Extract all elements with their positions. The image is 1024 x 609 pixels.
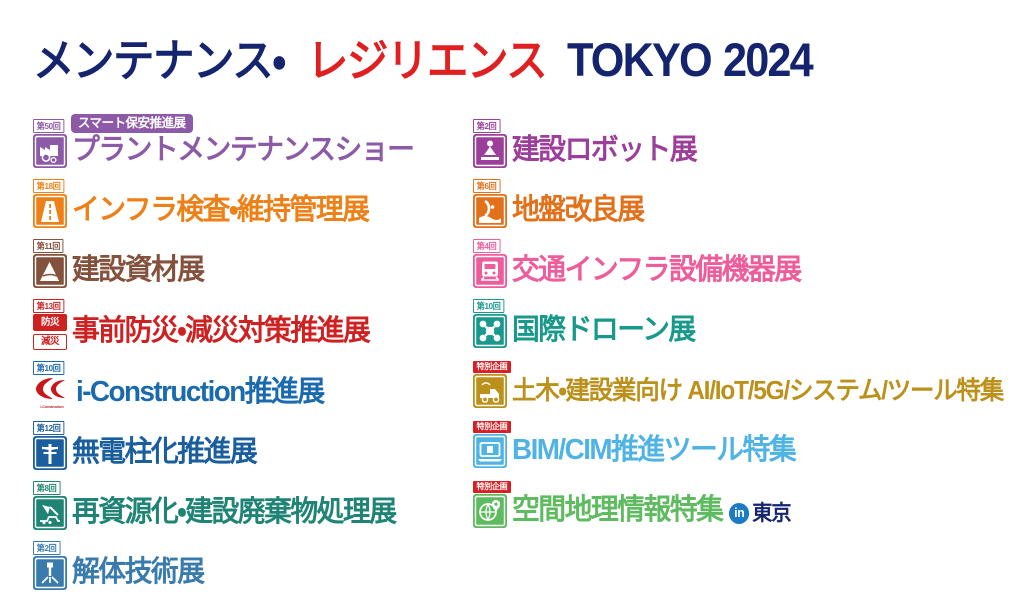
exhibition-item[interactable]: 第18回インフラ検査・維持管理展	[33, 178, 463, 228]
exhibition-list-left: 第50回スマート保安推進展プラントメンテナンスショー第18回インフラ検査・維持管…	[33, 118, 463, 600]
exhibition-title: プラントメンテナンスショー	[72, 136, 413, 166]
exhibition-title-row: 地盤改良展	[473, 194, 1013, 228]
icon-label-cell: 減災	[33, 334, 67, 351]
exhibition-item[interactable]: 第6回地盤改良展	[473, 178, 1013, 228]
exhibition-title-row: i-Constructioni-Construction推進展	[33, 376, 463, 410]
train-icon	[473, 254, 507, 288]
exhibition-item[interactable]: 第10回i-Constructioni-Construction推進展	[33, 360, 463, 410]
exhibition-badge-row: 第18回	[33, 178, 463, 193]
exhibition-title: BIM/CIM推進ツール特集	[512, 436, 795, 466]
edition-badge: 第8回	[33, 481, 60, 495]
exhibition-title: i-Construction推進展	[76, 378, 324, 408]
exhibition-title-row: 土木・建設業向け AI/IoT/5G/システム/ツール特集	[473, 374, 1013, 408]
exhibition-item[interactable]: 第11回建設資材展	[33, 238, 463, 288]
exhibition-item[interactable]: 第2回解体技術展	[33, 540, 463, 590]
exhibition-item[interactable]: 第4回交通インフラ設備機器展	[473, 238, 1013, 288]
exhibition-title-row: 再資源化・建設廃棄物処理展	[33, 496, 463, 530]
exhibition-title-row: 建設資材展	[33, 254, 463, 288]
globe-pin-icon	[473, 494, 507, 528]
exhibition-title-row: 建設ロボット展	[473, 134, 1013, 168]
special-feature-badge: 特別企画	[473, 481, 511, 494]
exhibition-title: 再資源化・建設廃棄物処理展	[72, 498, 396, 528]
edition-badge: 第13回	[33, 299, 64, 313]
exhibition-title-row: 無電柱化推進展	[33, 436, 463, 470]
drone-icon	[473, 314, 507, 348]
exhibition-title-row: 国際ドローン展	[473, 314, 1013, 348]
edition-badge: 第10回	[473, 299, 504, 313]
edition-badge: 第2回	[473, 119, 500, 133]
exhibition-item[interactable]: 第12回無電柱化推進展	[33, 420, 463, 470]
utility-pole-icon	[33, 436, 67, 470]
robot-arm-icon	[473, 134, 507, 168]
exhibition-badge-row: 第12回	[33, 420, 463, 435]
location-suffix: in東京	[729, 503, 790, 524]
exhibition-item[interactable]: 第13回防災減災事前防災・減災対策推進展	[33, 298, 463, 350]
exhibition-badge-row: 第2回	[473, 118, 1013, 133]
exhibition-title: 解体技術展	[72, 558, 204, 588]
exhibition-title: 土木・建設業向け AI/IoT/5G/システム/ツール特集	[512, 378, 1003, 404]
icon-label-cell: 防災	[33, 314, 67, 331]
edition-badge: 第4回	[473, 239, 500, 253]
edition-badge: 第50回	[33, 119, 64, 133]
exhibition-badge-row: 第13回	[33, 298, 463, 313]
exhibition-title-row: 空間地理情報特集in東京	[473, 494, 1013, 528]
road-bridge-icon	[33, 194, 67, 228]
exhibition-badge-row: 第8回	[33, 480, 463, 495]
ground-improvement-icon	[473, 194, 507, 228]
bosai-gensai-icon: 防災減災	[33, 314, 67, 350]
poster-root: メンテナンス・レジリエンスTOKYO2024 第50回スマート保安推進展プラント…	[0, 0, 1024, 609]
exhibition-title: 国際ドローン展	[512, 316, 695, 346]
exhibition-title-row: BIM/CIM推進ツール特集	[473, 434, 1013, 468]
exhibition-badge-row: 特別企画	[473, 478, 1013, 493]
i-construction-caption: i-Construction	[33, 406, 71, 410]
exhibition-badge-row: 第4回	[473, 238, 1013, 253]
exhibition-title: 無電柱化推進展	[72, 438, 256, 468]
exhibition-badge-row: 第50回スマート保安推進展	[33, 118, 463, 133]
event-masthead: メンテナンス・レジリエンスTOKYO2024	[33, 36, 820, 83]
edition-badge: 第11回	[33, 239, 64, 253]
exhibition-title: 建設資材展	[72, 256, 204, 286]
edition-badge: 第12回	[33, 421, 64, 435]
exhibition-title: 空間地理情報特集in東京	[512, 496, 791, 526]
exhibition-badge-row: 第10回	[33, 360, 463, 375]
exhibition-list-right: 第2回建設ロボット展第6回地盤改良展第4回交通インフラ設備機器展第10回国際ドロ…	[473, 118, 1013, 538]
recycle-excavator-icon	[33, 496, 67, 530]
exhibition-title-row: プラントメンテナンスショー	[33, 134, 463, 168]
exhibition-title: 事前防災・減災対策推進展	[72, 317, 369, 347]
exhibition-item[interactable]: 特別企画土木・建設業向け AI/IoT/5G/システム/ツール特集	[473, 358, 1013, 408]
laptop-bim-icon	[473, 434, 507, 468]
material-cone-icon	[33, 254, 67, 288]
edition-badge: 第18回	[33, 179, 64, 193]
smart-truck-icon	[473, 374, 507, 408]
exhibition-item[interactable]: 第10回国際ドローン展	[473, 298, 1013, 348]
exhibition-badge-row: 特別企画	[473, 358, 1013, 373]
edition-badge: 第10回	[33, 361, 64, 375]
exhibition-title: 交通インフラ設備機器展	[512, 256, 801, 286]
factory-gear-icon	[33, 134, 67, 168]
exhibition-title: 地盤改良展	[512, 196, 644, 226]
exhibition-title: インフラ検査・維持管理展	[72, 196, 368, 226]
exhibition-title: 建設ロボット展	[512, 136, 696, 166]
exhibition-title-row: インフラ検査・維持管理展	[33, 194, 463, 228]
masthead-part-4: 2024	[723, 36, 812, 83]
exhibition-title-row: 解体技術展	[33, 556, 463, 590]
exhibition-title-row: 交通インフラ設備機器展	[473, 254, 1013, 288]
masthead-part-2: レジリエンス	[307, 38, 546, 83]
exhibition-badge-row: 第11回	[33, 238, 463, 253]
edition-badge: 第2回	[33, 541, 60, 555]
masthead-part-1: メンテナンス・	[33, 38, 285, 83]
special-feature-badge: 特別企画	[473, 361, 511, 374]
exhibition-title-row: 防災減災事前防災・減災対策推進展	[33, 314, 463, 350]
demolition-breaker-icon	[33, 556, 67, 590]
sub-theme-badge: スマート保安推進展	[71, 114, 193, 133]
exhibition-item[interactable]: 第2回建設ロボット展	[473, 118, 1013, 168]
exhibition-item[interactable]: 特別企画BIM/CIM推進ツール特集	[473, 418, 1013, 468]
exhibition-item[interactable]: 第8回再資源化・建設廃棄物処理展	[33, 480, 463, 530]
exhibition-badge-row: 第6回	[473, 178, 1013, 193]
masthead-part-3: TOKYO	[567, 36, 711, 83]
edition-badge: 第6回	[473, 179, 500, 193]
city-label: 東京	[752, 503, 790, 524]
i-construction-logo-icon: i-Construction	[33, 376, 71, 410]
special-feature-badge: 特別企画	[473, 421, 511, 434]
exhibition-badge-row: 第2回	[33, 540, 463, 555]
exhibition-badge-row: 特別企画	[473, 418, 1013, 433]
exhibition-badge-row: 第10回	[473, 298, 1013, 313]
exhibition-item[interactable]: 特別企画空間地理情報特集in東京	[473, 478, 1013, 528]
exhibition-item[interactable]: 第50回スマート保安推進展プラントメンテナンスショー	[33, 118, 463, 168]
in-badge: in	[729, 503, 749, 524]
